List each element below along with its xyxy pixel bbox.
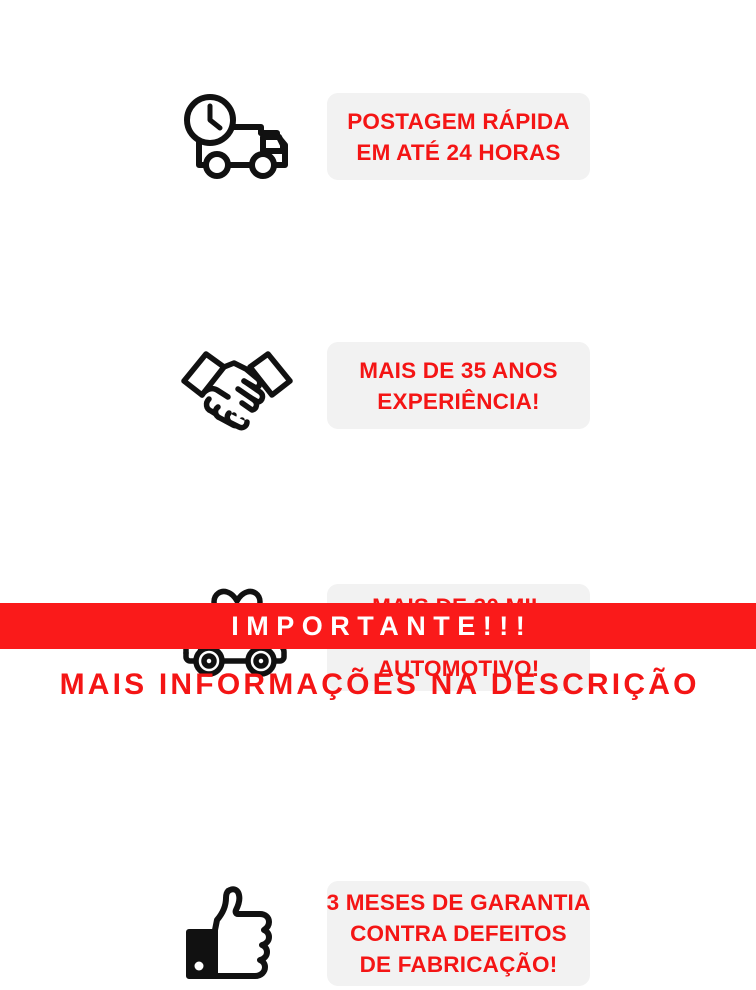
important-banner-text: IMPORTANTE!!! [224, 603, 532, 649]
description-callout-text: MAIS INFORMAÇÕES NA DESCRIÇÃO [56, 668, 699, 702]
benefit-row-automotive: MAIS DE 30 MIL ITENS NO SETOR AUTOMOTIVO… [0, 288, 756, 413]
benefit-row-shipping: POSTAGEM RÁPIDA EM ATÉ 24 HORAS [0, 40, 756, 155]
benefit-row-experience: MAIS DE 35 ANOS EXPERIÊNCIA! [0, 165, 756, 280]
thumbs-up-icon [162, 880, 312, 990]
promo-banner-page: POSTAGEM RÁPIDA EM ATÉ 24 HORAS [0, 0, 756, 756]
benefit-line: EM ATÉ 24 HORAS [356, 137, 560, 168]
benefit-line: DE FABRICAÇÃO! [360, 949, 558, 980]
benefit-line: CONTRA DEFEITOS [350, 918, 567, 949]
benefit-line: 3 MESES DE GARANTIA [327, 887, 591, 918]
description-callout: MAIS INFORMAÇÕES NA DESCRIÇÃO [0, 660, 756, 710]
important-banner: IMPORTANTE!!! [0, 603, 756, 649]
benefit-text-card-warranty: 3 MESES DE GARANTIA CONTRA DEFEITOS DE F… [327, 881, 590, 986]
benefit-row-warranty: 3 MESES DE GARANTIA CONTRA DEFEITOS DE F… [0, 437, 756, 562]
benefits-list: POSTAGEM RÁPIDA EM ATÉ 24 HORAS [0, 0, 756, 590]
benefit-line: POSTAGEM RÁPIDA [347, 106, 570, 137]
